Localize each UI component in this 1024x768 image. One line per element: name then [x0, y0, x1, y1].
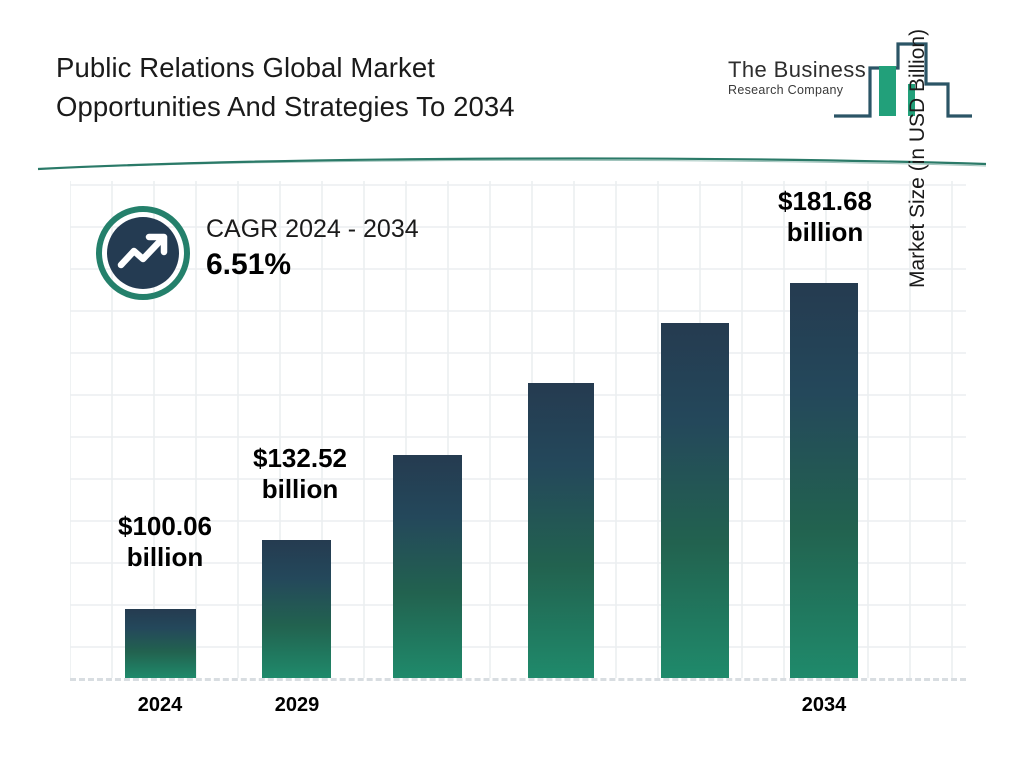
bar-2029[interactable]	[393, 455, 462, 678]
bar-value-label-2029: $132.52 billion	[235, 443, 365, 505]
bar-2033[interactable]	[661, 323, 729, 678]
cagr-badge: CAGR 2024 - 2034 6.51%	[96, 206, 516, 306]
bar-value-amount: $100.06	[100, 511, 230, 542]
bar-value-unit: billion	[235, 474, 365, 505]
bar-2025[interactable]	[262, 540, 331, 678]
title-line-2: Opportunities And Strategies To 2034	[56, 87, 696, 126]
x-tick-2034: 2034	[774, 694, 874, 717]
bar-value-unit: billion	[100, 542, 230, 573]
header: Public Relations Global Market Opportuni…	[0, 0, 1024, 168]
trending-up-arrow-icon	[96, 206, 190, 300]
bar-value-label-2024: $100.06 billion	[100, 511, 230, 573]
bar-value-label-2034: $181.68 billion	[760, 186, 890, 248]
y-axis-label: Market Size (in USD Billion)	[906, 0, 930, 288]
bar-value-amount: $181.68	[760, 186, 890, 217]
chart-page: Public Relations Global Market Opportuni…	[0, 0, 1024, 768]
bar-2034[interactable]	[790, 283, 858, 678]
bar-chart-outline-icon	[830, 36, 974, 126]
bar-value-amount: $132.52	[235, 443, 365, 474]
bar-value-unit: billion	[760, 217, 890, 248]
cagr-value-label: 6.51%	[206, 246, 506, 284]
cagr-period-label: CAGR 2024 - 2034	[206, 212, 506, 246]
axis-baseline	[70, 678, 966, 681]
bar-2031[interactable]	[528, 383, 594, 678]
x-tick-2029: 2029	[247, 694, 347, 717]
page-title: Public Relations Global Market Opportuni…	[56, 48, 696, 126]
x-tick-2024: 2024	[110, 694, 210, 717]
bar-2024[interactable]	[125, 609, 196, 678]
title-line-1: Public Relations Global Market	[56, 48, 696, 87]
company-logo: The Business Research Company	[722, 36, 974, 126]
cagr-text-block: CAGR 2024 - 2034 6.51%	[206, 212, 506, 284]
